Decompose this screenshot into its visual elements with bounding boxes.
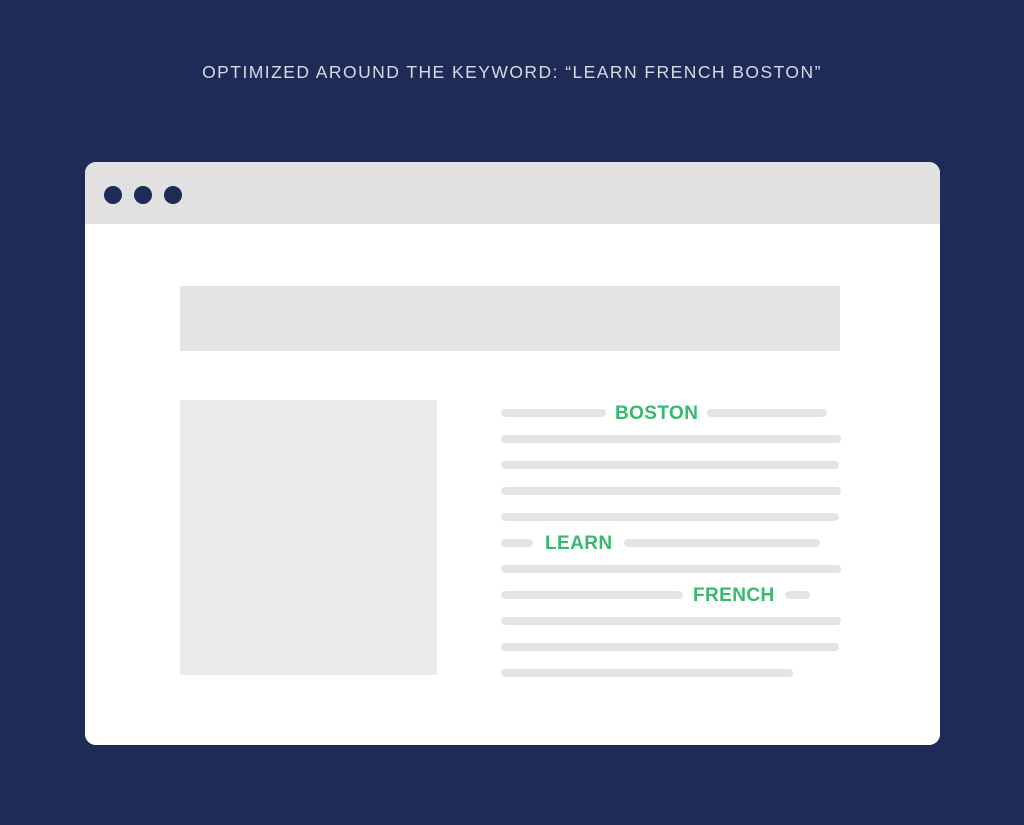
browser-viewport: BOSTONLEARNFRENCH bbox=[85, 224, 940, 745]
text-placeholder-bar bbox=[501, 513, 839, 521]
page-title: OPTIMIZED AROUND THE KEYWORD: “LEARN FRE… bbox=[0, 62, 1024, 83]
window-controls bbox=[104, 186, 182, 204]
content-text-row bbox=[501, 608, 841, 634]
content-text-row bbox=[501, 504, 841, 530]
keyword-learn: LEARN bbox=[545, 534, 612, 553]
keyword-boston: BOSTON bbox=[615, 404, 698, 423]
text-placeholder-bar bbox=[501, 487, 841, 495]
hero-banner-placeholder bbox=[180, 286, 840, 351]
text-placeholder-bar bbox=[501, 461, 839, 469]
content-text-row bbox=[501, 634, 841, 660]
text-placeholder-bar bbox=[501, 539, 533, 547]
window-dot-minimize[interactable] bbox=[134, 186, 152, 204]
browser-title-bar bbox=[85, 162, 940, 224]
content-text-row bbox=[501, 478, 841, 504]
content-text-row bbox=[501, 556, 841, 582]
window-dot-maximize[interactable] bbox=[164, 186, 182, 204]
content-text-row bbox=[501, 426, 841, 452]
content-text-row: LEARN bbox=[501, 530, 841, 556]
text-placeholder-bar bbox=[501, 435, 841, 443]
text-placeholder-bar bbox=[707, 409, 827, 417]
keyword-french: FRENCH bbox=[693, 586, 775, 605]
content-text-row bbox=[501, 660, 841, 686]
content-text-row: BOSTON bbox=[501, 400, 841, 426]
text-placeholder-bar bbox=[501, 617, 841, 625]
browser-window-mockup: BOSTONLEARNFRENCH bbox=[85, 162, 940, 745]
image-placeholder bbox=[180, 400, 437, 675]
text-placeholder-bar bbox=[501, 565, 841, 573]
content-text-row bbox=[501, 452, 841, 478]
text-placeholder-bar bbox=[501, 591, 683, 599]
text-placeholder-bar bbox=[501, 409, 606, 417]
text-placeholder-bar bbox=[624, 539, 820, 547]
content-text-column: BOSTONLEARNFRENCH bbox=[501, 400, 841, 686]
content-text-row: FRENCH bbox=[501, 582, 841, 608]
text-placeholder-bar bbox=[785, 591, 810, 599]
text-placeholder-bar bbox=[501, 643, 839, 651]
window-dot-close[interactable] bbox=[104, 186, 122, 204]
text-placeholder-bar bbox=[501, 669, 793, 677]
